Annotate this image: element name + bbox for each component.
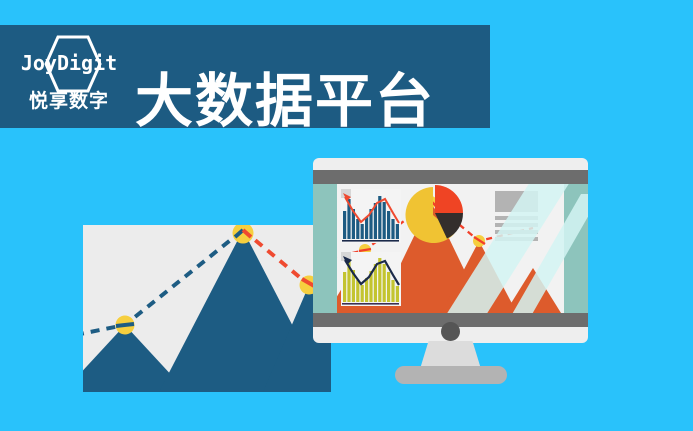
mountain-line-chart-panel — [83, 225, 331, 392]
olive-bar-chart-card — [341, 252, 401, 306]
desktop-monitor — [313, 158, 588, 343]
monitor-top-bezel-bar — [313, 170, 588, 184]
dashboard-svg — [337, 184, 564, 313]
widget-line — [495, 230, 538, 234]
screen-side-band-right — [564, 184, 588, 313]
pie-slice-red — [435, 185, 463, 213]
poster-canvas: JoyDigit 悦享数字 大数据平台 — [0, 0, 693, 431]
widget-header-block — [495, 191, 538, 212]
logo-subtitle: 悦享数字 — [16, 90, 122, 114]
screen-side-band-left — [313, 184, 337, 313]
page-title: 大数据平台 — [135, 71, 435, 133]
widget-line — [495, 223, 538, 227]
widget-line — [495, 237, 538, 241]
dashboard-content — [337, 184, 564, 313]
header-banner: JoyDigit 悦享数字 大数据平台 — [0, 25, 490, 128]
blue-bar-chart-card — [341, 189, 401, 243]
monitor-base — [395, 366, 507, 384]
mountain-chart-svg — [83, 225, 331, 392]
monitor-screen — [313, 184, 588, 313]
widget-line — [495, 216, 538, 220]
monitor-neck — [420, 341, 481, 369]
camera-dot-icon — [441, 322, 460, 341]
brand-logo: JoyDigit 悦享数字 — [16, 33, 122, 121]
text-block-widget — [495, 191, 538, 241]
logo-wordmark: JoyDigit — [16, 52, 122, 74]
